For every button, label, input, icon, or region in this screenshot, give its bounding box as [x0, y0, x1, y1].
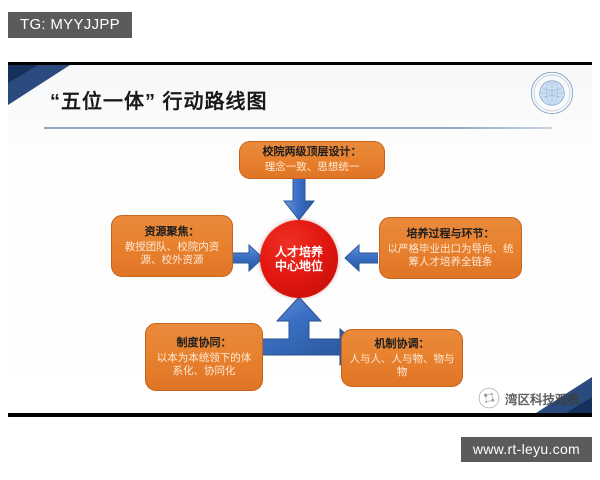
- account-name: 湾区科技观察: [505, 389, 580, 408]
- node-title: 培养过程与环节：: [407, 228, 495, 241]
- center-core-circle: 人才培养 中心地位: [260, 220, 338, 298]
- center-line-1: 人才培养: [275, 245, 323, 259]
- slide-canvas: “五位一体” 行动路线图: [8, 65, 592, 413]
- title-divider: [44, 127, 552, 129]
- arrow-right-to-center-icon: [230, 243, 264, 273]
- arrow-left-to-center-icon: [338, 243, 378, 273]
- node-title: 校院两级顶层设计：: [263, 146, 362, 159]
- university-seal-icon: [530, 71, 574, 115]
- arrow-down-to-center-icon: [283, 177, 315, 221]
- slide-title: “五位一体” 行动路线图: [50, 85, 268, 114]
- node-resource-focus[interactable]: 资源聚焦： 教授团队、校院内资源、校外资源: [111, 215, 233, 277]
- telegram-watermark: TG: MYYJJPP: [8, 12, 132, 38]
- node-body: 人与人、人与物、物与物: [348, 353, 456, 379]
- node-system-synergy[interactable]: 制度协同： 以本为本统领下的体系化、协同化: [145, 323, 263, 391]
- node-mechanism-coordination[interactable]: 机制协调： 人与人、人与物、物与物: [341, 329, 463, 387]
- node-body: 理念一致、思想统一: [265, 161, 360, 174]
- node-title: 制度协同：: [177, 337, 232, 350]
- node-title: 机制协调：: [375, 338, 430, 351]
- node-title: 资源聚焦：: [145, 226, 200, 239]
- node-body: 以严格毕业出口为导向、统筹人才培养全链条: [386, 243, 515, 269]
- node-training-process[interactable]: 培养过程与环节： 以严格毕业出口为导向、统筹人才培养全链条: [379, 217, 522, 279]
- center-line-2: 中心地位: [275, 259, 323, 273]
- site-watermark: www.rt-leyu.com: [461, 437, 592, 462]
- node-body: 教授团队、校院内资源、校外资源: [118, 241, 226, 267]
- wan-qu-logo-icon: [478, 387, 500, 409]
- account-credit: 湾区科技观察: [478, 387, 580, 409]
- node-body: 以本为本统领下的体系化、协同化: [152, 352, 256, 378]
- presentation-slide: “五位一体” 行动路线图: [8, 62, 592, 417]
- corner-decoration-top-left-inner: [8, 65, 38, 83]
- node-top-level-design[interactable]: 校院两级顶层设计： 理念一致、思想统一: [239, 141, 385, 179]
